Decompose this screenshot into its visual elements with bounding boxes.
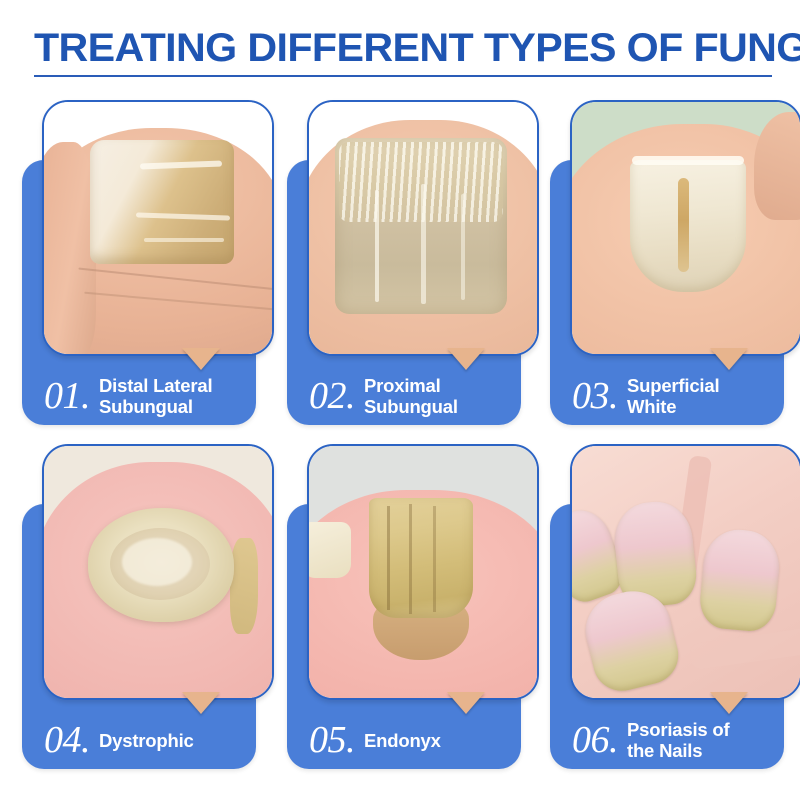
- card-photo-bubble: [42, 444, 274, 700]
- card-number: 05.: [309, 721, 355, 759]
- fungi-types-grid: 01. Distal Lateral Subungual 02. Proxima…: [0, 96, 800, 796]
- photo-psoriasis-of-the-nails: [572, 446, 800, 698]
- photo-dystrophic: [44, 446, 272, 698]
- card-number: 04.: [44, 721, 90, 759]
- card-label: 03. Superficial White: [558, 365, 784, 427]
- title-block: TREATING DIFFERENT TYPES OF FUNGI: [34, 26, 774, 82]
- card-photo-bubble: [42, 100, 274, 356]
- title-underline: [34, 75, 772, 77]
- photo-endonyx: [309, 446, 537, 698]
- card-title: Dystrophic: [99, 730, 194, 751]
- page-title: TREATING DIFFERENT TYPES OF FUNGI: [34, 26, 796, 70]
- photo-proximal-subungual: [309, 102, 537, 354]
- card-photo-bubble: [570, 444, 800, 700]
- photo-distal-lateral-subungual: [44, 102, 272, 354]
- card-proximal-subungual[interactable]: 02. Proximal Subungual: [287, 100, 540, 430]
- card-distal-lateral-subungual[interactable]: 01. Distal Lateral Subungual: [22, 100, 275, 430]
- card-superficial-white[interactable]: 03. Superficial White: [550, 100, 800, 430]
- card-title: Endonyx: [364, 730, 441, 751]
- card-label: 04. Dystrophic: [30, 709, 256, 771]
- card-psoriasis-of-the-nails[interactable]: 06. Psoriasis of the Nails: [550, 444, 800, 774]
- card-photo-bubble: [570, 100, 800, 356]
- card-label: 02. Proximal Subungual: [295, 365, 521, 427]
- card-title: Psoriasis of the Nails: [627, 719, 729, 761]
- card-label: 05. Endonyx: [295, 709, 521, 771]
- card-dystrophic[interactable]: 04. Dystrophic: [22, 444, 275, 774]
- card-number: 02.: [309, 377, 355, 415]
- card-label: 01. Distal Lateral Subungual: [30, 365, 256, 427]
- card-photo-bubble: [307, 444, 539, 700]
- card-endonyx[interactable]: 05. Endonyx: [287, 444, 540, 774]
- photo-superficial-white: [572, 102, 800, 354]
- card-label: 06. Psoriasis of the Nails: [558, 709, 784, 771]
- card-title: Distal Lateral Subungual: [99, 375, 212, 417]
- card-title: Superficial White: [627, 375, 719, 417]
- card-title: Proximal Subungual: [364, 375, 458, 417]
- card-number: 01.: [44, 377, 90, 415]
- card-number: 06.: [572, 721, 618, 759]
- card-photo-bubble: [307, 100, 539, 356]
- card-number: 03.: [572, 377, 618, 415]
